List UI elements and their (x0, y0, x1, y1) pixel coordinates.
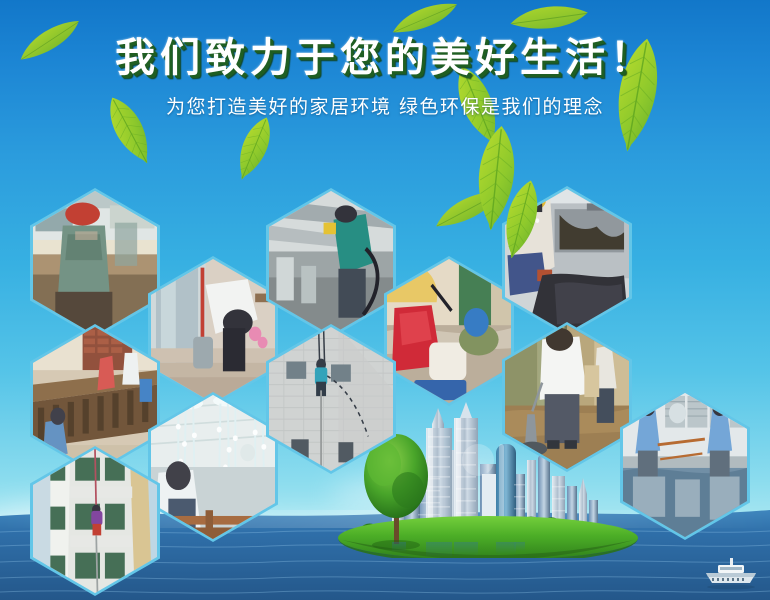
hex-photo-chandelier-cleaning[interactable] (148, 392, 278, 542)
hex-photo-stair-polishing[interactable] (148, 256, 278, 406)
hex-photo-duct-cleaning[interactable] (266, 188, 396, 338)
hex-photo-floor-scrubbing-image (505, 325, 629, 469)
hex-photo-stone-grinding-image (33, 191, 157, 335)
hex-photo-carpet-machine[interactable] (384, 256, 514, 406)
hex-photo-carpet-machine-image (387, 259, 511, 403)
banner-stage: 我们致力于您的美好生活！ 为您打造美好的家居环境 绿色环保是我们的理念 (0, 0, 770, 600)
hex-photo-duct-cleaning-image (269, 191, 393, 335)
hex-photo-facade-rope-access[interactable] (266, 324, 396, 474)
hex-photo-kitchen-hood[interactable] (502, 186, 632, 336)
hex-photo-window-rope-worker-image (33, 449, 157, 593)
hex-photo-stone-grinding[interactable] (30, 188, 160, 338)
hex-photo-facade-rope-access-image (269, 327, 393, 471)
hex-photo-ac-unit-cleaning-image (623, 393, 747, 537)
banner-header: 我们致力于您的美好生活！ 为您打造美好的家居环境 绿色环保是我们的理念 (0, 0, 770, 117)
hex-photo-floor-scrubbing[interactable] (502, 322, 632, 472)
page-subtitle: 为您打造美好的家居环境 绿色环保是我们的理念 (0, 78, 770, 117)
page-title: 我们致力于您的美好生活！ (0, 0, 770, 78)
hex-photo-window-rope-worker[interactable] (30, 446, 160, 596)
hex-photo-kitchen-hood-image (505, 189, 629, 333)
hex-photo-stair-polishing-image (151, 259, 275, 403)
hex-photo-chandelier-cleaning-image (151, 395, 275, 539)
hex-photo-ac-unit-cleaning[interactable] (620, 390, 750, 540)
